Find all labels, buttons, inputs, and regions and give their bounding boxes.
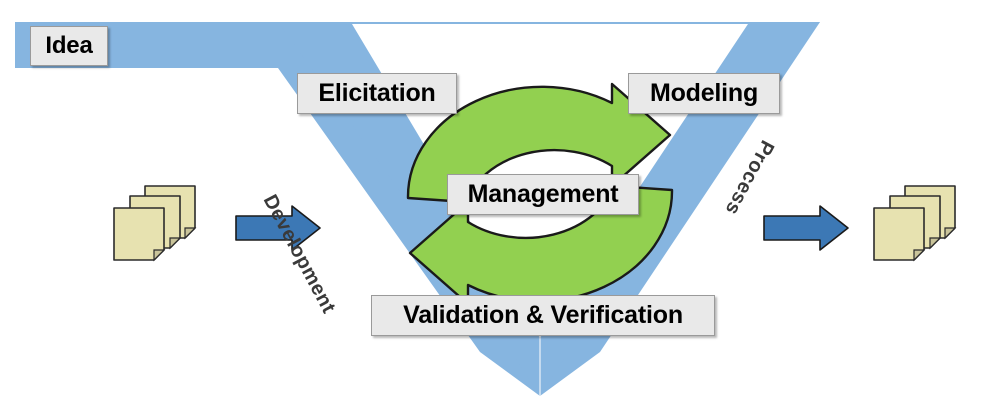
label-box-validation-verification[interactable]: Validation & Verification — [371, 295, 715, 336]
label-box-modeling[interactable]: Modeling — [628, 73, 780, 114]
right-arrow-output-icon — [764, 206, 848, 250]
label-box-elicitation[interactable]: Elicitation — [297, 73, 457, 114]
diagram-canvas: Idea Elicitation Modeling Management Val… — [0, 0, 982, 416]
label-box-idea[interactable]: Idea — [30, 26, 108, 66]
document-stack-input-icon — [114, 186, 195, 260]
document-stack-output-icon — [874, 186, 955, 260]
label-box-management[interactable]: Management — [447, 174, 639, 215]
